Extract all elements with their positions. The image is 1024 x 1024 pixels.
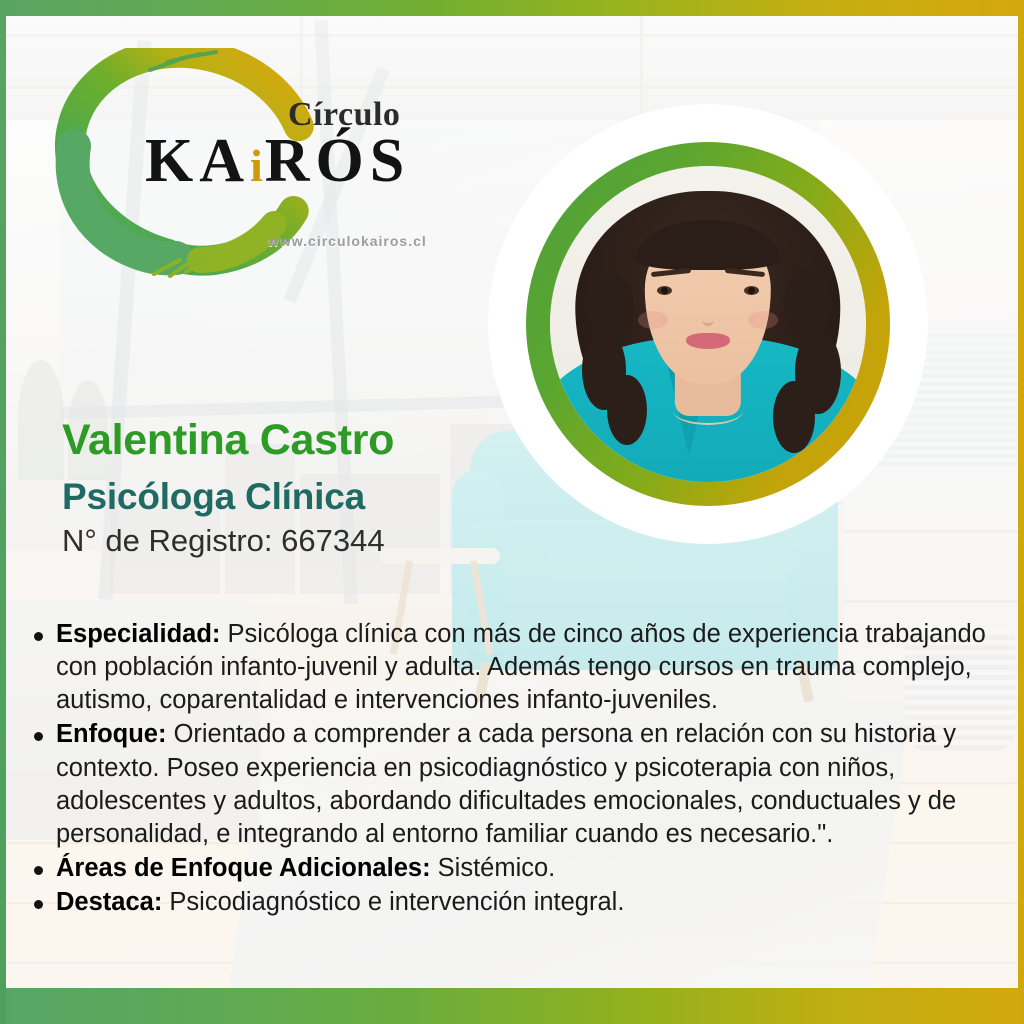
detail-text: Orientado a comprender a cada persona en… — [56, 720, 956, 847]
detail-label: Áreas de Enfoque Adicionales: — [56, 854, 431, 882]
identity-block: Valentina Castro Psicóloga Clínica N° de… — [62, 418, 394, 558]
portrait-nose — [702, 305, 714, 326]
portrait-avatar — [488, 104, 928, 544]
logo-kairos-ka: KA — [145, 127, 250, 195]
list-item: Especialidad: Psicóloga clínica con más … — [56, 618, 1024, 717]
portrait-necklace — [673, 397, 743, 425]
portrait-mouth — [686, 333, 730, 349]
border-left-strip — [0, 0, 6, 1024]
profile-name: Valentina Castro — [62, 418, 394, 463]
detail-text: Psicodiagnóstico e intervención integral… — [162, 888, 624, 916]
detail-text: Sistémico. — [431, 854, 556, 882]
list-item: Áreas de Enfoque Adicionales: Sistémico. — [56, 852, 1024, 885]
logo-kairos-text: KAiRÓS — [145, 126, 410, 197]
list-item: Destaca: Psicodiagnóstico e intervención… — [56, 886, 1024, 919]
border-top-gradient — [0, 0, 1024, 16]
profile-details-list: Especialidad: Psicóloga clínica con más … — [26, 618, 1024, 920]
logo-website-text: www.circulokairos.cl — [268, 233, 427, 249]
detail-label: Enfoque: — [56, 720, 166, 748]
portrait-cheek-right — [748, 311, 778, 329]
profile-registry-number: N° de Registro: 667344 — [62, 524, 394, 558]
border-bottom-gradient — [0, 988, 1024, 1024]
brand-logo[interactable]: Círculo KAiRÓS www.circulokairos.cl — [50, 48, 470, 278]
detail-label: Especialidad: — [56, 620, 220, 648]
logo-kairos-i: i — [250, 140, 265, 191]
profile-card: Círculo KAiRÓS www.circulokairos.cl — [0, 0, 1024, 1024]
portrait-hair-curl — [607, 375, 647, 445]
border-right-strip — [1018, 0, 1024, 1024]
list-item: Enfoque: Orientado a comprender a cada p… — [56, 718, 1024, 851]
profile-role: Psicóloga Clínica — [62, 477, 394, 518]
detail-label: Destaca: — [56, 888, 162, 916]
portrait-eye-right — [744, 286, 759, 295]
logo-kairos-ros: RÓS — [265, 127, 410, 195]
portrait-photo — [550, 166, 866, 482]
